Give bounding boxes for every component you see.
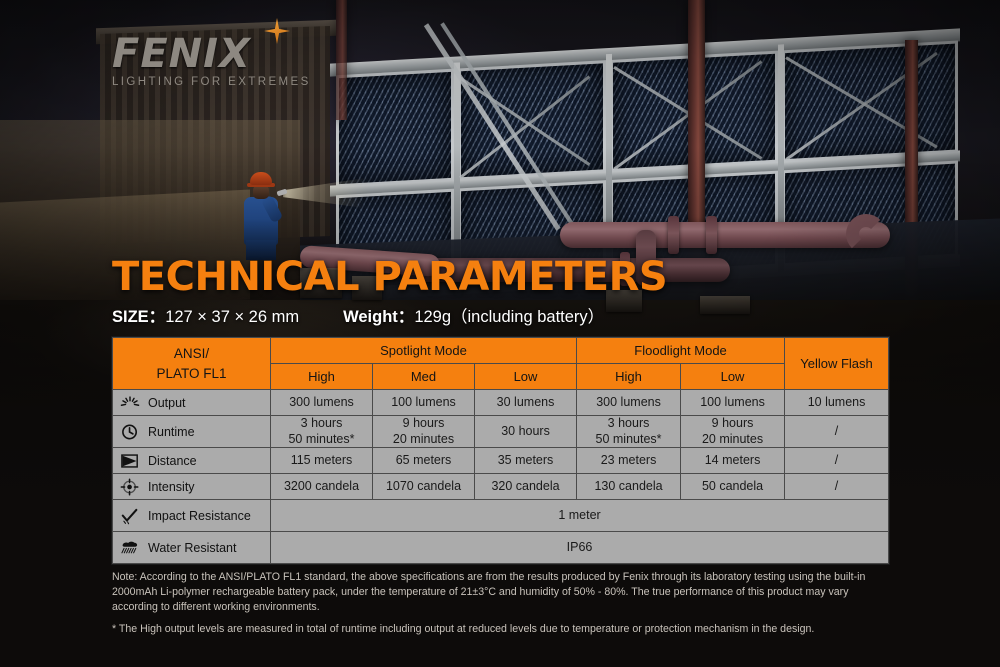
cell-distance-spot-low: 35 meters	[475, 448, 577, 474]
cell-runtime-flood-high: 3 hours 50 minutes*	[577, 416, 681, 448]
table-row: Output 300 lumens 100 lumens 30 lumens 3…	[113, 390, 889, 416]
cell-output-spot-high: 300 lumens	[271, 390, 373, 416]
weight-label: Weight：	[343, 308, 414, 326]
brand-name: FENIX	[112, 34, 392, 74]
row-label-text: Output	[148, 396, 186, 410]
cell-intensity-flood-high: 130 candela	[577, 474, 681, 500]
burst-light-icon	[119, 394, 141, 412]
table-row: Intensity 3200 candela 1070 candela 320 …	[113, 474, 889, 500]
row-label-text: Impact Resistance	[148, 509, 251, 523]
size-weight-line: SIZE：127 × 37 × 26 mmWeight：129g（includi…	[112, 303, 604, 327]
technical-parameters-table: ANSI/ PLATO FL1 Spotlight Mode Floodligh…	[112, 337, 889, 564]
row-label-output: Output	[113, 390, 271, 416]
cell-impact-resistance-value: 1 meter	[271, 500, 889, 532]
clock-icon	[119, 423, 141, 441]
cell-distance-spot-med: 65 meters	[373, 448, 475, 474]
cell-distance-yellow-flash: /	[785, 448, 889, 474]
row-label-water-resistant: Water Resistant	[113, 532, 271, 564]
cell-output-flood-low: 100 lumens	[681, 390, 785, 416]
row-label-distance: Distance	[113, 448, 271, 474]
cell-output-spot-med: 100 lumens	[373, 390, 475, 416]
row-label-runtime: Runtime	[113, 416, 271, 448]
cell-runtime-flood-low: 9 hours 20 minutes	[681, 416, 785, 448]
weight-value: 129g（including battery）	[414, 308, 604, 326]
cell-intensity-flood-low: 50 candela	[681, 474, 785, 500]
row-label-impact-resistance: Impact Resistance	[113, 500, 271, 532]
group-header-spotlight: Spotlight Mode	[271, 338, 577, 364]
check-drop-icon	[119, 507, 141, 525]
cell-distance-spot-high: 115 meters	[271, 448, 373, 474]
cell-intensity-spot-high: 3200 candela	[271, 474, 373, 500]
footnote-asterisk: * The High output levels are measured in…	[112, 622, 890, 637]
beam-distance-icon	[119, 452, 141, 470]
cell-water-resistant-value: IP66	[271, 532, 889, 564]
ansi-line-2: PLATO FL1	[113, 364, 270, 384]
cell-intensity-spot-med: 1070 candela	[373, 474, 475, 500]
cell-distance-flood-high: 23 meters	[577, 448, 681, 474]
product-spec-page: FENIX LIGHTING FOR EXTREMES TECHNICAL PA…	[0, 0, 1000, 667]
row-label-text: Runtime	[148, 425, 195, 439]
cell-output-yellow-flash: 10 lumens	[785, 390, 889, 416]
cell-runtime-spot-med: 9 hours 20 minutes	[373, 416, 475, 448]
subheader-spot-high: High	[271, 364, 373, 390]
target-crosshair-icon	[119, 478, 141, 496]
table-header-row-group: ANSI/ PLATO FL1 Spotlight Mode Floodligh…	[113, 338, 889, 364]
subheader-spot-med: Med	[373, 364, 475, 390]
cell-output-flood-high: 300 lumens	[577, 390, 681, 416]
cell-runtime-spot-low: 30 hours	[475, 416, 577, 448]
table-row: Water Resistant IP66	[113, 532, 889, 564]
footnote-block: Note: According to the ANSI/PLATO FL1 st…	[112, 570, 890, 637]
brand-tagline: LIGHTING FOR EXTREMES	[112, 76, 392, 88]
size-value: 127 × 37 × 26 mm	[165, 308, 299, 326]
table-row: Runtime 3 hours 50 minutes* 9 hours 20 m…	[113, 416, 889, 448]
row-label-text: Water Resistant	[148, 541, 236, 555]
page-content: FENIX LIGHTING FOR EXTREMES TECHNICAL PA…	[0, 0, 1000, 667]
row-label-intensity: Intensity	[113, 474, 271, 500]
cell-distance-flood-low: 14 meters	[681, 448, 785, 474]
cell-intensity-spot-low: 320 candela	[475, 474, 577, 500]
table-row: Distance 115 meters 65 meters 35 meters …	[113, 448, 889, 474]
ansi-plato-corner: ANSI/ PLATO FL1	[113, 338, 271, 390]
group-header-yellow-flash: Yellow Flash	[785, 338, 889, 390]
table-row: Impact Resistance 1 meter	[113, 500, 889, 532]
subheader-flood-low: Low	[681, 364, 785, 390]
row-label-text: Intensity	[148, 480, 195, 494]
footnote-main: Note: According to the ANSI/PLATO FL1 st…	[112, 570, 890, 615]
size-label: SIZE：	[112, 308, 165, 326]
fenix-logo: FENIX LIGHTING FOR EXTREMES	[112, 34, 392, 88]
cell-runtime-spot-high: 3 hours 50 minutes*	[271, 416, 373, 448]
page-title: TECHNICAL PARAMETERS	[112, 257, 667, 297]
group-header-floodlight: Floodlight Mode	[577, 338, 785, 364]
rain-cloud-icon	[119, 539, 141, 557]
cell-intensity-yellow-flash: /	[785, 474, 889, 500]
cell-output-spot-low: 30 lumens	[475, 390, 577, 416]
row-label-text: Distance	[148, 454, 197, 468]
ansi-line-1: ANSI/	[113, 344, 270, 364]
cell-runtime-yellow-flash: /	[785, 416, 889, 448]
subheader-flood-high: High	[577, 364, 681, 390]
subheader-spot-low: Low	[475, 364, 577, 390]
